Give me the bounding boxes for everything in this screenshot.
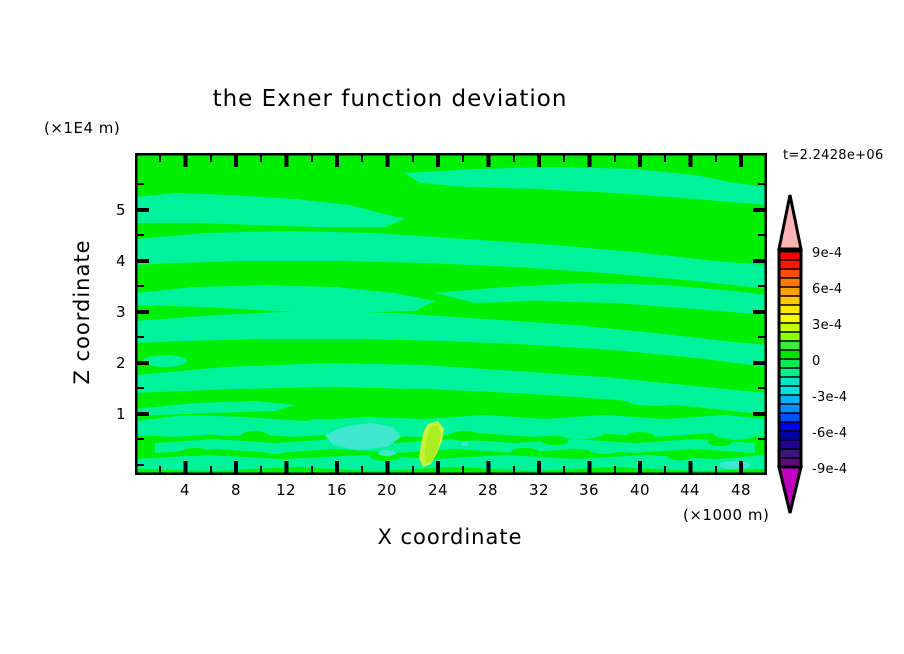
x-tick-label: 16 — [317, 481, 357, 499]
x-axis-unit-label: (×1000 m) — [683, 506, 769, 524]
x-tick-label: 40 — [620, 481, 660, 499]
x-tick-label: 4 — [165, 481, 205, 499]
y-tick-label: 2 — [96, 354, 126, 372]
x-tick-label: 12 — [266, 481, 306, 499]
x-tick-label: 24 — [418, 481, 458, 499]
colorbar-tick-label: 6e-4 — [812, 282, 842, 297]
contour-plot-figure: the Exner function deviation (×1E4 m) t=… — [0, 0, 904, 654]
page-title: the Exner function deviation — [0, 86, 780, 112]
y-tick-label: 4 — [96, 252, 126, 270]
colorbar-under-arrow — [779, 467, 801, 513]
colorbar-tick-label: 9e-4 — [812, 246, 842, 261]
timestamp-label: t=2.2428e+06 — [783, 148, 884, 163]
x-axis-title: X coordinate — [135, 525, 765, 549]
colorbar-tick-label: -3e-4 — [812, 390, 847, 405]
x-tick-label: 28 — [468, 481, 508, 499]
contour-bands — [135, 153, 767, 475]
colorbar-tick-label: -9e-4 — [812, 462, 847, 477]
y-tick-label: 1 — [96, 405, 126, 423]
x-tick-label: 48 — [721, 481, 761, 499]
x-tick-label: 20 — [367, 481, 407, 499]
colorbar-over-arrow — [779, 195, 801, 249]
colorbar-tick-label: -6e-4 — [812, 426, 847, 441]
colorbar-tick-label: 3e-4 — [812, 318, 842, 333]
y-tick-label: 3 — [96, 303, 126, 321]
x-tick-label: 8 — [216, 481, 256, 499]
y-tick-label: 5 — [96, 201, 126, 219]
x-tick-label: 44 — [670, 481, 710, 499]
y-axis-unit-label: (×1E4 m) — [44, 119, 120, 137]
colorbar[interactable] — [776, 193, 808, 515]
y-axis-title: Z coordinate — [70, 212, 94, 412]
x-tick-label: 32 — [519, 481, 559, 499]
x-tick-label: 36 — [569, 481, 609, 499]
colorbar-tick-label: 0 — [812, 354, 821, 369]
contour-field-panel — [135, 153, 767, 475]
